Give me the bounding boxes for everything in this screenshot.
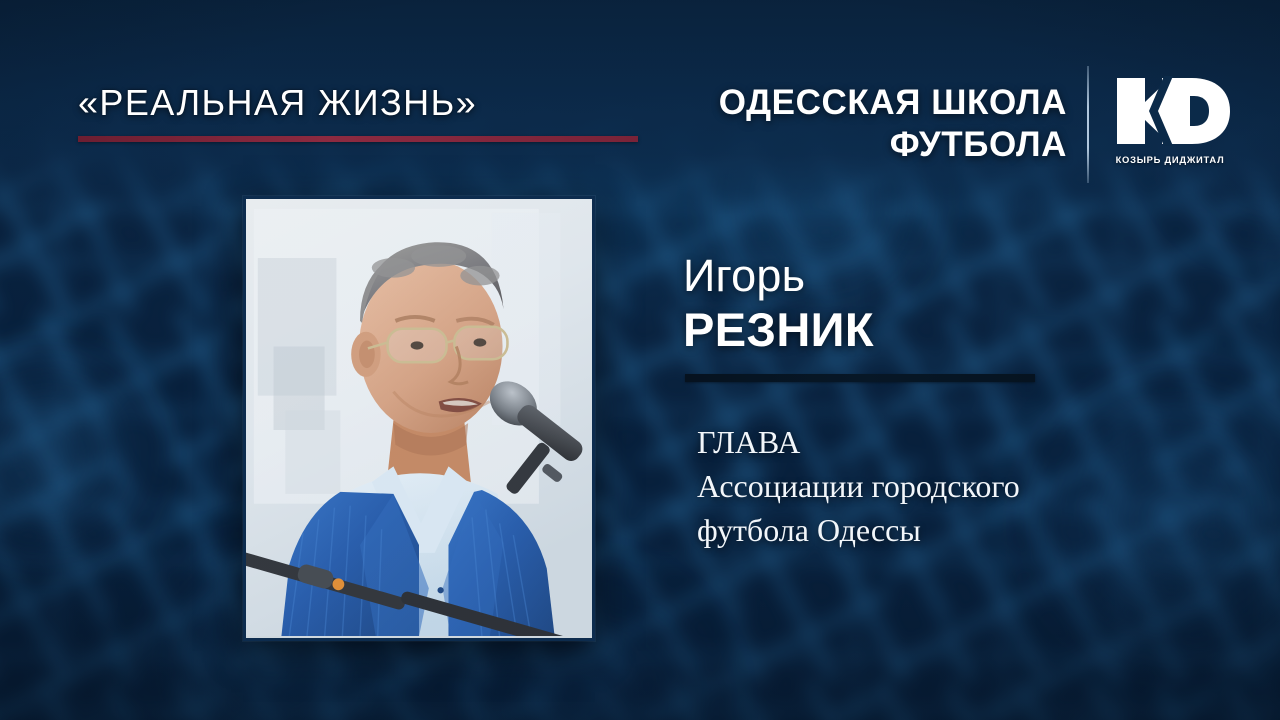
guest-first-name: Игорь: [683, 250, 805, 302]
program-title-line-1: ОДЕССКАЯ ШКОЛА: [719, 82, 1067, 124]
show-title: «РЕАЛЬНАЯ ЖИЗНЬ»: [78, 82, 477, 124]
logo-caption: КОЗЫРЬ ДИДЖИТАЛ: [1104, 154, 1236, 165]
guest-role-line-3: футбола Одессы: [697, 508, 1127, 552]
program-title: ОДЕССКАЯ ШКОЛА ФУТБОЛА: [719, 82, 1067, 166]
channel-logo[interactable]: КОЗЫРЬ ДИДЖИТАЛ: [1104, 74, 1236, 178]
guest-role-line-2: Ассоциации городского: [697, 464, 1127, 508]
show-title-accent-rule: [78, 136, 638, 142]
guest-name-divider: [685, 374, 1035, 382]
kd-monogram-icon: [1104, 74, 1236, 148]
program-title-line-2: ФУТБОЛА: [719, 124, 1067, 166]
guest-role-line-1: ГЛАВА: [697, 420, 1127, 464]
guest-portrait: [243, 196, 595, 641]
broadcast-lower-third: «РЕАЛЬНАЯ ЖИЗНЬ» ОДЕССКАЯ ШКОЛА ФУТБОЛА …: [0, 0, 1280, 720]
header-vertical-divider: [1087, 66, 1089, 183]
guest-role: ГЛАВА Ассоциации городского футбола Одес…: [697, 420, 1127, 552]
guest-last-name: РЕЗНИК: [683, 302, 874, 357]
